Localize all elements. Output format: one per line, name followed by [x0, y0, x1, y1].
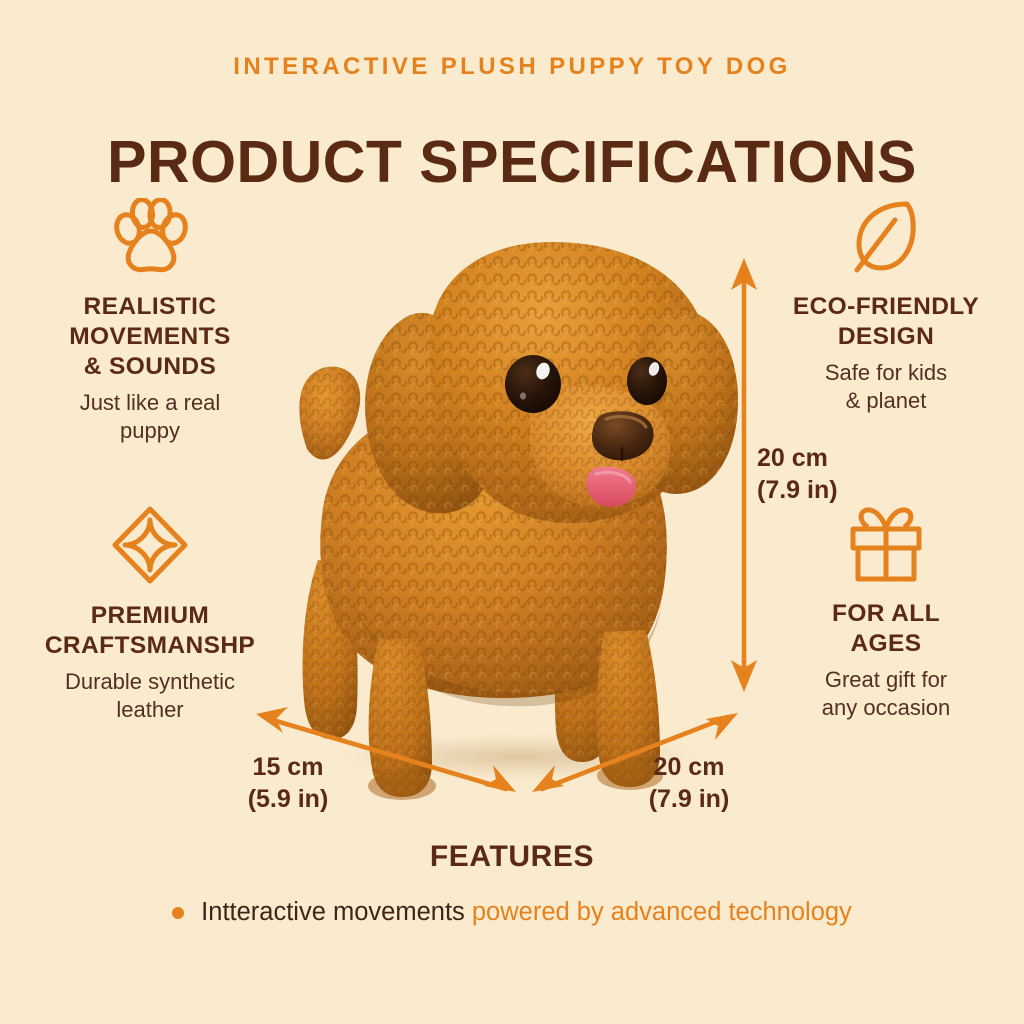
dimension-arrows: [256, 258, 757, 792]
feature-description: Durable synthetic leather: [12, 668, 288, 724]
puppy-ear-left: [365, 313, 494, 513]
paw-print-icon: [22, 198, 278, 276]
feature-for-all-ages: FOR ALL AGES Great gift for any occasion: [762, 505, 1010, 722]
puppy-body: [320, 399, 667, 707]
height-dimension-label: 20 cm (7.9 in): [757, 443, 838, 506]
bullet-highlight-text: powered by advanced technology: [472, 898, 852, 926]
puppy-ear-right: [630, 310, 738, 494]
features-section-heading: FEATURES: [0, 840, 1024, 874]
height-dimension-arrow: [731, 258, 757, 692]
puppy-tongue: [586, 467, 636, 507]
feature-title: ECO-FRIENDLY DESIGN: [762, 292, 1010, 352]
puppy-muzzle: [530, 385, 670, 506]
puppy-head: [429, 242, 712, 523]
puppy-eye-left: [505, 355, 561, 413]
eyebrow-subtitle: INTERACTIVE PLUSH PUPPY TOY DOG: [0, 53, 1024, 81]
feature-description: Safe for kids & planet: [762, 359, 1010, 415]
puppy-tail: [299, 367, 360, 460]
feature-title: PREMIUM CRAFTSMANSHP: [12, 601, 288, 661]
diamond-star-icon: [12, 505, 288, 585]
feature-title: REALISTIC MOVEMENTS & SOUNDS: [22, 292, 278, 382]
puppy-rear-leg-far: [303, 560, 358, 739]
feature-bullet-text: Intteractive movements powered by advanc…: [201, 898, 852, 927]
gift-box-icon: [762, 505, 1010, 583]
feature-premium-craftsmanship: PREMIUM CRAFTSMANSHP Durable synthetic l…: [12, 505, 288, 724]
puppy-rear-leg-near: [368, 638, 436, 800]
feature-bullet-row: Intteractive movements powered by advanc…: [0, 898, 1024, 927]
feature-title: FOR ALL AGES: [762, 599, 1010, 659]
feature-description: Just like a real puppy: [22, 389, 278, 445]
puppy-nose: [592, 411, 654, 460]
depth-dimension-label: 20 cm (7.9 in): [628, 752, 750, 815]
page-title: PRODUCT SPECIFICATIONS: [0, 128, 1024, 196]
plush-poodle-puppy-toy: [299, 242, 738, 800]
feature-eco-friendly-design: ECO-FRIENDLY DESIGN Safe for kids & plan…: [762, 198, 1010, 415]
puppy-eye-right: [627, 357, 667, 405]
feature-realistic-movements-sounds: REALISTIC MOVEMENTS & SOUNDS Just like a…: [22, 198, 278, 445]
feature-description: Great gift for any occasion: [762, 666, 1010, 722]
product-specification-infographic: INTERACTIVE PLUSH PUPPY TOY DOG PRODUCT …: [0, 0, 1024, 1024]
bullet-lead-text: Intteractive movements: [201, 898, 472, 926]
width-dimension-label: 15 cm (5.9 in): [228, 752, 348, 815]
puppy-front-leg-far: [555, 585, 610, 762]
leaf-icon: [762, 198, 1010, 276]
bullet-dot-icon: [172, 907, 184, 919]
